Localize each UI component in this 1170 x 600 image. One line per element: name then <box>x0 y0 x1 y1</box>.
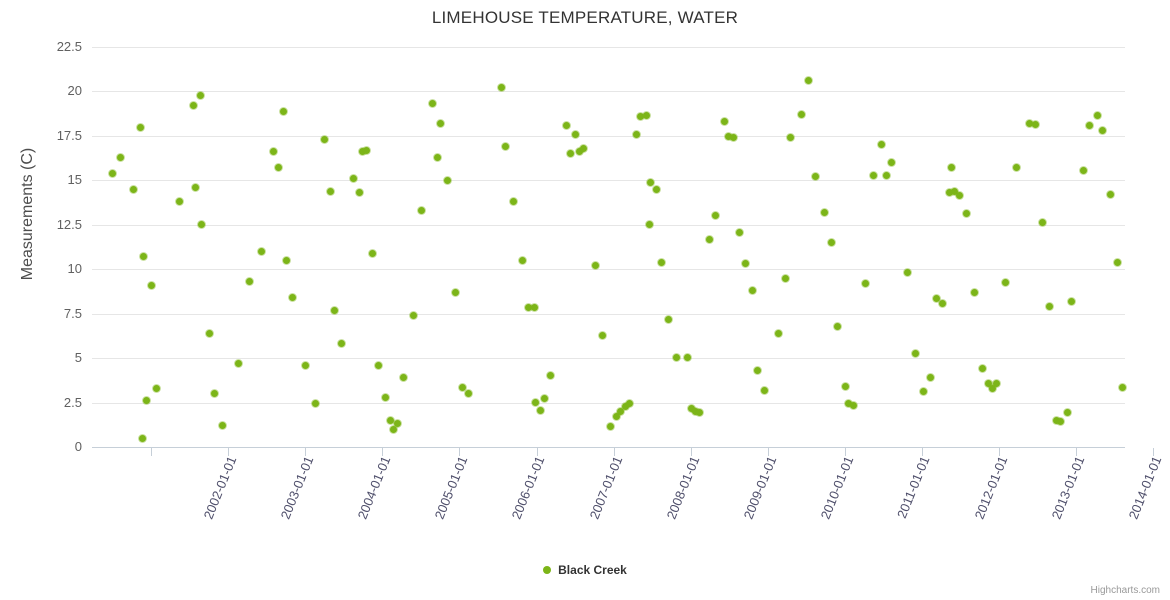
data-point[interactable] <box>948 164 955 171</box>
y-axis-tick-label: 7.5 <box>64 306 82 321</box>
y-axis-tick-label: 12.5 <box>57 217 82 232</box>
data-point[interactable] <box>363 147 370 154</box>
data-point[interactable] <box>643 112 650 119</box>
data-point[interactable] <box>280 108 287 115</box>
data-point[interactable] <box>338 340 345 347</box>
data-point[interactable] <box>140 253 147 260</box>
x-axis-tick <box>691 448 692 456</box>
data-point[interactable] <box>782 275 789 282</box>
gridline <box>92 314 1125 315</box>
data-point[interactable] <box>1013 164 1020 171</box>
data-point[interactable] <box>400 374 407 381</box>
data-point[interactable] <box>979 365 986 372</box>
data-point[interactable] <box>646 221 653 228</box>
data-point[interactable] <box>437 120 444 127</box>
data-point[interactable] <box>572 131 579 138</box>
highcharts-scatter-chart: LIMEHOUSE TEMPERATURE, WATER Measurement… <box>0 0 1170 600</box>
data-point[interactable] <box>805 77 812 84</box>
x-axis-tick-label: 2014-01-01 <box>1126 454 1165 521</box>
data-point[interactable] <box>139 435 146 442</box>
data-point[interactable] <box>519 257 526 264</box>
data-point[interactable] <box>547 372 554 379</box>
data-point[interactable] <box>862 280 869 287</box>
x-axis-tick <box>922 448 923 456</box>
data-point[interactable] <box>429 100 436 107</box>
x-axis-tick-label: 2002-01-01 <box>201 454 240 521</box>
data-point[interactable] <box>375 362 382 369</box>
data-point[interactable] <box>673 354 680 361</box>
data-point[interactable] <box>580 145 587 152</box>
data-point[interactable] <box>787 134 794 141</box>
data-point[interactable] <box>130 186 137 193</box>
data-point[interactable] <box>775 330 782 337</box>
data-point[interactable] <box>761 387 768 394</box>
x-axis-tick <box>845 448 846 456</box>
data-point[interactable] <box>109 170 116 177</box>
data-point[interactable] <box>350 175 357 182</box>
data-point[interactable] <box>1002 279 1009 286</box>
x-axis-tick-label: 2010-01-01 <box>817 454 856 521</box>
data-point[interactable] <box>1107 191 1114 198</box>
data-point[interactable] <box>1039 219 1046 226</box>
x-axis-line <box>92 447 1125 448</box>
x-axis-tick <box>305 448 306 456</box>
data-point[interactable] <box>742 260 749 267</box>
data-point[interactable] <box>270 148 277 155</box>
data-point[interactable] <box>721 118 728 125</box>
highcharts-credits[interactable]: Highcharts.com <box>1091 585 1160 596</box>
y-axis-tick-label: 0 <box>75 439 82 454</box>
x-axis-tick-label: 2007-01-01 <box>586 454 625 521</box>
x-axis-tick-label: 2011-01-01 <box>894 454 932 520</box>
data-point[interactable] <box>1046 303 1053 310</box>
data-point[interactable] <box>798 111 805 118</box>
gridline <box>92 47 1125 48</box>
data-point[interactable] <box>312 400 319 407</box>
data-point[interactable] <box>541 395 548 402</box>
data-point[interactable] <box>148 282 155 289</box>
data-point[interactable] <box>382 394 389 401</box>
data-point[interactable] <box>197 92 204 99</box>
x-axis-tick <box>228 448 229 456</box>
data-point[interactable] <box>137 124 144 131</box>
data-point[interactable] <box>730 134 737 141</box>
data-point[interactable] <box>289 294 296 301</box>
data-point[interactable] <box>599 332 606 339</box>
data-point[interactable] <box>327 188 334 195</box>
y-axis-tick-label: 22.5 <box>57 39 82 54</box>
data-point[interactable] <box>502 143 509 150</box>
y-axis-tick-label: 5 <box>75 350 82 365</box>
data-point[interactable] <box>971 289 978 296</box>
data-point[interactable] <box>706 236 713 243</box>
x-axis-tick-label: 2012-01-01 <box>972 454 1011 521</box>
data-point[interactable] <box>812 173 819 180</box>
gridline <box>92 136 1125 137</box>
data-point[interactable] <box>117 154 124 161</box>
data-point[interactable] <box>607 423 614 430</box>
data-point[interactable] <box>246 278 253 285</box>
data-point[interactable] <box>1080 167 1087 174</box>
x-axis-tick <box>382 448 383 456</box>
data-point[interactable] <box>927 374 934 381</box>
data-point[interactable] <box>956 192 963 199</box>
x-axis-tick-label: 2006-01-01 <box>509 454 548 521</box>
data-point[interactable] <box>888 159 895 166</box>
data-point[interactable] <box>1094 112 1101 119</box>
data-point[interactable] <box>510 198 517 205</box>
data-point[interactable] <box>235 360 242 367</box>
data-point[interactable] <box>258 248 265 255</box>
data-point[interactable] <box>219 422 226 429</box>
data-point[interactable] <box>749 287 756 294</box>
data-point[interactable] <box>198 221 205 228</box>
data-point[interactable] <box>176 198 183 205</box>
x-axis-tick <box>459 448 460 456</box>
data-point[interactable] <box>283 257 290 264</box>
data-point[interactable] <box>1064 409 1071 416</box>
x-axis-tick <box>999 448 1000 456</box>
legend-item-label[interactable]: Black Creek <box>558 563 627 577</box>
y-axis-tick-label: 17.5 <box>57 128 82 143</box>
y-axis-tick-label: 20 <box>68 83 82 98</box>
data-point[interactable] <box>647 179 654 186</box>
y-axis-tick-labels: 02.557.51012.51517.52022.5 <box>20 47 82 447</box>
x-axis-tick-label: 2008-01-01 <box>663 454 702 521</box>
data-point[interactable] <box>592 262 599 269</box>
data-point[interactable] <box>531 304 538 311</box>
data-point[interactable] <box>410 312 417 319</box>
data-point[interactable] <box>1068 298 1075 305</box>
data-point[interactable] <box>754 367 761 374</box>
legend-marker-icon <box>543 566 551 574</box>
data-point[interactable] <box>331 307 338 314</box>
gridline <box>92 403 1125 404</box>
data-point[interactable] <box>211 390 218 397</box>
data-point[interactable] <box>1114 259 1121 266</box>
data-point[interactable] <box>633 131 640 138</box>
data-point[interactable] <box>1099 127 1106 134</box>
data-point[interactable] <box>939 300 946 307</box>
y-axis-tick-label: 2.5 <box>64 395 82 410</box>
data-point[interactable] <box>993 380 1000 387</box>
data-point[interactable] <box>1086 122 1093 129</box>
x-axis-tick-label: 2004-01-01 <box>355 454 394 521</box>
plot-area <box>92 47 1125 447</box>
x-axis-tick-label: 2003-01-01 <box>278 454 317 521</box>
data-point[interactable] <box>206 330 213 337</box>
x-axis-tick <box>1153 448 1154 456</box>
data-point[interactable] <box>532 399 539 406</box>
data-point[interactable] <box>658 259 665 266</box>
data-point[interactable] <box>434 154 441 161</box>
x-axis-tick-label: 2009-01-01 <box>740 454 779 521</box>
gridline <box>92 225 1125 226</box>
data-point[interactable] <box>870 172 877 179</box>
data-point[interactable] <box>653 186 660 193</box>
data-point[interactable] <box>444 177 451 184</box>
data-point[interactable] <box>696 409 703 416</box>
gridline <box>92 358 1125 359</box>
data-point[interactable] <box>369 250 376 257</box>
data-point[interactable] <box>153 385 160 392</box>
data-point[interactable] <box>850 402 857 409</box>
data-point[interactable] <box>563 122 570 129</box>
chart-title: LIMEHOUSE TEMPERATURE, WATER <box>0 8 1170 28</box>
x-axis-tick <box>537 448 538 456</box>
data-point[interactable] <box>684 354 691 361</box>
data-point[interactable] <box>302 362 309 369</box>
data-point[interactable] <box>321 136 328 143</box>
data-point[interactable] <box>567 150 574 157</box>
x-axis-tick <box>151 448 152 456</box>
x-axis-tick <box>614 448 615 456</box>
data-point[interactable] <box>190 102 197 109</box>
gridline <box>92 91 1125 92</box>
data-point[interactable] <box>626 400 633 407</box>
data-point[interactable] <box>904 269 911 276</box>
x-axis-tick-label: 2013-01-01 <box>1049 454 1088 521</box>
data-point[interactable] <box>842 383 849 390</box>
y-axis-tick-label: 15 <box>68 172 82 187</box>
x-axis-tick <box>768 448 769 456</box>
data-point[interactable] <box>963 210 970 217</box>
data-point[interactable] <box>1119 384 1126 391</box>
data-point[interactable] <box>498 84 505 91</box>
x-axis-tick-label: 2005-01-01 <box>432 454 471 521</box>
data-point[interactable] <box>712 212 719 219</box>
data-point[interactable] <box>356 189 363 196</box>
x-axis-tick <box>1076 448 1077 456</box>
data-point[interactable] <box>920 388 927 395</box>
data-point[interactable] <box>465 390 472 397</box>
data-point[interactable] <box>387 417 394 424</box>
data-point[interactable] <box>834 323 841 330</box>
data-point[interactable] <box>394 420 401 427</box>
data-point[interactable] <box>878 141 885 148</box>
chart-legend[interactable]: Black Creek <box>0 562 1170 577</box>
data-point[interactable] <box>192 184 199 191</box>
data-point[interactable] <box>828 239 835 246</box>
gridline <box>92 269 1125 270</box>
data-point[interactable] <box>821 209 828 216</box>
data-point[interactable] <box>1057 418 1064 425</box>
data-point[interactable] <box>912 350 919 357</box>
y-axis-tick-label: 10 <box>68 261 82 276</box>
data-point[interactable] <box>665 316 672 323</box>
data-point[interactable] <box>736 229 743 236</box>
data-point[interactable] <box>452 289 459 296</box>
data-point[interactable] <box>418 207 425 214</box>
gridline <box>92 180 1125 181</box>
data-point[interactable] <box>537 407 544 414</box>
data-point[interactable] <box>883 172 890 179</box>
data-point[interactable] <box>1032 121 1039 128</box>
data-point[interactable] <box>275 164 282 171</box>
